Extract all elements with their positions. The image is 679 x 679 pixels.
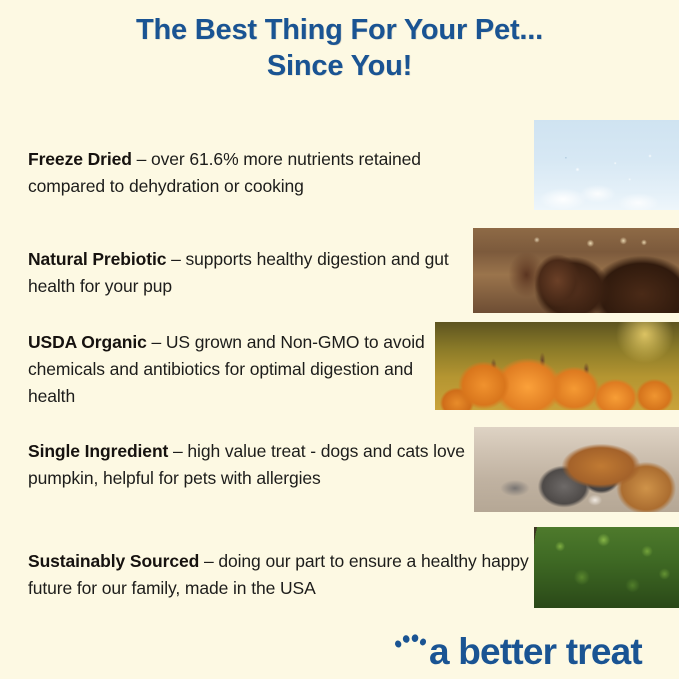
brand-wordmark: a better treat bbox=[429, 631, 642, 673]
feature-item-natural-prebiotic: Natural Prebiotic – supports healthy dig… bbox=[28, 246, 468, 300]
feature-lead-natural-prebiotic: Natural Prebiotic bbox=[28, 249, 166, 269]
feature-lead-single-ingredient: Single Ingredient bbox=[28, 441, 168, 461]
green-forest-photo bbox=[534, 527, 679, 608]
feature-item-single-ingredient: Single Ingredient – high value treat - d… bbox=[28, 438, 468, 492]
brand-logo: a better treat bbox=[393, 628, 671, 676]
feature-lead-usda-organic: USDA Organic bbox=[28, 332, 147, 352]
feature-lead-sustainably-sourced: Sustainably Sourced bbox=[28, 551, 199, 571]
feature-item-sustainably-sourced: Sustainably Sourced – doing our part to … bbox=[28, 548, 548, 602]
paw-print-icon bbox=[393, 631, 433, 673]
feature-item-usda-organic: USDA Organic – US grown and Non-GMO to a… bbox=[28, 329, 428, 410]
page-title-line-1: The Best Thing For Your Pet... bbox=[0, 12, 679, 48]
feature-lead-freeze-dried: Freeze Dried bbox=[28, 149, 132, 169]
chocolate-labrador-photo bbox=[473, 228, 679, 313]
page-title-line-2: Since You! bbox=[0, 48, 679, 84]
frost-crystals-photo bbox=[534, 120, 679, 210]
infographic-page: The Best Thing For Your Pet... Since You… bbox=[0, 0, 679, 679]
pumpkins-photo bbox=[435, 322, 679, 410]
feature-item-freeze-dried: Freeze Dried – over 61.6% more nutrients… bbox=[28, 146, 498, 200]
cat-and-dog-photo bbox=[474, 427, 679, 512]
page-title: The Best Thing For Your Pet... Since You… bbox=[0, 12, 679, 84]
